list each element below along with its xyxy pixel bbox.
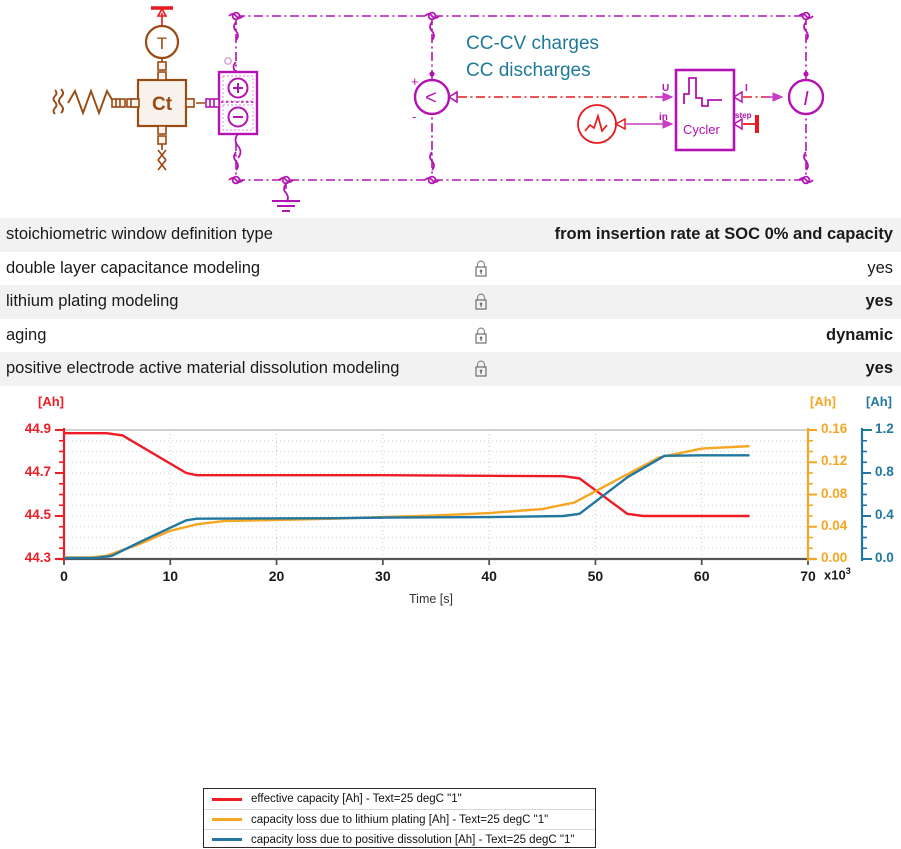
- legend-swatch: [212, 798, 242, 801]
- legend-item[interactable]: effective capacity [Ah] - Text=25 degC "…: [204, 789, 595, 809]
- voltage-minus-label: -: [412, 109, 416, 124]
- port-label-i: I: [745, 83, 748, 94]
- table-row-value[interactable]: yes: [501, 359, 901, 378]
- cycler-block-label: Cycler: [683, 122, 720, 137]
- x-axis-tick: 30: [363, 568, 403, 584]
- table-row-lock[interactable]: [461, 360, 501, 377]
- x-axis-tick: 60: [682, 568, 722, 584]
- left-axis-tick: 44.5: [0, 507, 51, 522]
- legend-swatch: [212, 818, 242, 821]
- x-axis-tick: 0: [44, 568, 84, 584]
- temperature-sensor-label: T: [157, 34, 167, 53]
- port-label-in: in: [659, 112, 668, 123]
- series-line: [64, 455, 750, 558]
- current-source-label: I: [803, 88, 809, 110]
- ground-icon: [272, 201, 300, 211]
- legend-swatch: [212, 838, 242, 841]
- page-root: Ct T: [0, 0, 901, 608]
- table-row-label: lithium plating modeling: [0, 292, 461, 311]
- left-axis-tick: 44.3: [0, 550, 51, 565]
- right1-axis-tick: 0.00: [821, 550, 847, 565]
- right2-axis-unit: [Ah]: [866, 394, 892, 409]
- left-axis-unit: [Ah]: [38, 394, 64, 409]
- chart-series: [64, 433, 750, 558]
- table-row-lock[interactable]: [461, 260, 501, 277]
- chart-axes: [55, 428, 872, 565]
- thermal-capacitance-label: Ct: [152, 94, 173, 115]
- table-row[interactable]: positive electrode active material disso…: [0, 352, 901, 386]
- legend-label: effective capacity [Ah] - Text=25 degC "…: [251, 793, 462, 805]
- annotation-cc-cv-charges: CC-CV charges: [466, 33, 599, 55]
- voltage-sensor-label: <: [425, 87, 437, 109]
- table-row[interactable]: stoichiometric window definition typefro…: [0, 218, 901, 252]
- current-source-dot: [803, 71, 808, 76]
- diagram-svg: Ct T: [0, 0, 901, 215]
- right1-axis-tick: 0.12: [821, 453, 847, 468]
- x-axis-tick: 40: [469, 568, 509, 584]
- table-row-value[interactable]: from insertion rate at SOC 0% and capaci…: [501, 225, 901, 244]
- thermal-resistor-icon: [54, 89, 115, 114]
- right2-axis-tick: 0.8: [875, 464, 894, 479]
- port-label-step: step: [735, 111, 751, 120]
- right1-axis-unit: [Ah]: [810, 394, 836, 409]
- capacity-chart: 44.344.544.744.90.000.040.080.120.160.00…: [0, 390, 901, 608]
- lock-icon: [474, 293, 488, 310]
- chart-svg: [0, 390, 901, 608]
- right2-axis-tick: 1.2: [875, 421, 894, 436]
- parameter-table: stoichiometric window definition typefro…: [0, 218, 901, 386]
- table-row-label: stoichiometric window definition type: [0, 225, 461, 244]
- x-axis-tick: 20: [257, 568, 297, 584]
- chart-legend[interactable]: effective capacity [Ah] - Text=25 degC "…: [203, 788, 596, 848]
- x-axis-title: Time [s]: [409, 592, 453, 606]
- voltage-sensor-dot: [429, 71, 434, 76]
- lock-icon: [474, 360, 488, 377]
- port-label-u: U: [662, 83, 669, 94]
- temperature-output-arrow: [151, 8, 173, 26]
- right1-axis-tick: 0.16: [821, 421, 847, 436]
- voltage-sensor-output-port: [449, 92, 457, 102]
- legend-label: capacity loss due to lithium plating [Ah…: [251, 814, 548, 826]
- legend-item[interactable]: capacity loss due to positive dissolutio…: [204, 829, 595, 849]
- right1-axis-tick: 0.08: [821, 486, 847, 501]
- table-row-value[interactable]: yes: [501, 292, 901, 311]
- x-axis-multiplier: x103: [824, 566, 851, 582]
- table-row[interactable]: lithium plating modelingyes: [0, 285, 901, 319]
- table-row-label: aging: [0, 326, 461, 345]
- table-row-value[interactable]: yes: [501, 259, 901, 278]
- x-axis-tick: 10: [150, 568, 190, 584]
- table-row-lock[interactable]: [461, 293, 501, 310]
- legend-item[interactable]: capacity loss due to lithium plating [Ah…: [204, 809, 595, 829]
- battery-aux-node: [225, 58, 231, 64]
- circuit-diagram: Ct T: [0, 0, 901, 215]
- voltage-plus-label: +: [411, 74, 419, 89]
- right2-axis-tick: 0.0: [875, 550, 894, 565]
- lock-icon: [474, 260, 488, 277]
- left-axis-tick: 44.7: [0, 464, 51, 479]
- x-axis-tick: 50: [575, 568, 615, 584]
- table-row[interactable]: agingdynamic: [0, 319, 901, 353]
- right2-axis-tick: 0.4: [875, 507, 894, 522]
- lock-icon: [474, 327, 488, 344]
- table-row[interactable]: double layer capacitance modelingyes: [0, 252, 901, 286]
- table-row-label: double layer capacitance modeling: [0, 259, 461, 278]
- battery-plus-wire: [234, 62, 237, 72]
- left-axis-tick: 44.9: [0, 421, 51, 436]
- battery-port-stubs: [206, 99, 219, 107]
- table-row-label: positive electrode active material disso…: [0, 359, 461, 378]
- battery-cell-block[interactable]: [219, 72, 257, 134]
- profile-source-block[interactable]: [578, 105, 625, 143]
- x-axis-tick: 70: [788, 568, 828, 584]
- right1-axis-tick: 0.04: [821, 518, 847, 533]
- series-line: [64, 433, 750, 516]
- table-row-value[interactable]: dynamic: [501, 326, 901, 345]
- legend-label: capacity loss due to positive dissolutio…: [251, 834, 574, 846]
- table-row-lock[interactable]: [461, 327, 501, 344]
- cycler-block[interactable]: [676, 70, 734, 150]
- annotation-cc-discharges: CC discharges: [466, 60, 591, 82]
